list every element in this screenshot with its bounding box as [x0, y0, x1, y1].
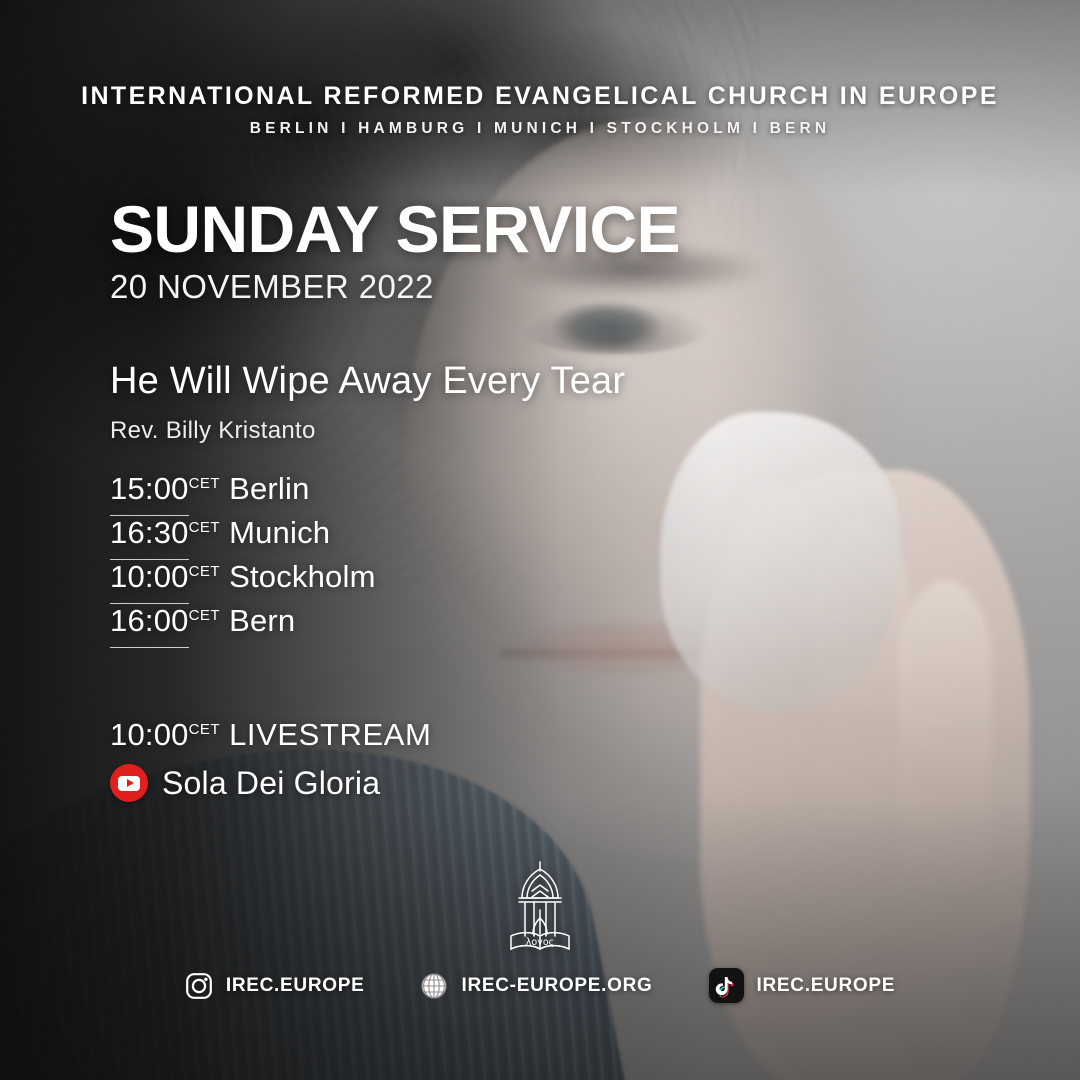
main-block: SUNDAY SERVICE 20 NOVEMBER 2022 He Will …: [110, 196, 830, 802]
sunday-service-poster: INTERNATIONAL REFORMED EVANGELICAL CHURC…: [0, 0, 1080, 1080]
service-time-value: 16:30: [110, 515, 189, 551]
livestream-time-row: 10:00CET LIVESTREAM: [110, 717, 830, 753]
service-time-value: 16:00: [110, 603, 189, 639]
social-link-website[interactable]: IREC-EUROPE.ORG: [420, 972, 652, 1000]
service-time-row: 15:00CET Berlin: [110, 471, 830, 515]
service-date: 20 NOVEMBER 2022: [110, 269, 830, 305]
social-label-tiktok: IREC.EUROPE: [757, 975, 896, 997]
organization-name: INTERNATIONAL REFORMED EVANGELICAL CHURC…: [0, 82, 1080, 111]
youtube-icon-play-triangle: [127, 779, 134, 787]
service-time-zone: CET: [189, 519, 221, 536]
service-time-zone: CET: [189, 607, 221, 624]
social-link-tiktok[interactable]: IREC.EUROPE: [709, 968, 896, 1003]
page-title: SUNDAY SERVICE: [110, 196, 830, 263]
speaker-name: Rev. Billy Kristanto: [110, 417, 830, 445]
service-time-city: Berlin: [229, 471, 309, 507]
instagram-icon[interactable]: [185, 972, 213, 1000]
footer-social-row: IREC.EUROPE: [0, 968, 1080, 1003]
service-time-row: 10:00CET Stockholm: [110, 559, 830, 603]
city-list: BERLIN I HAMBURG I MUNICH I STOCKHOLM I …: [0, 120, 1080, 138]
social-link-instagram[interactable]: IREC.EUROPE: [185, 972, 365, 1000]
service-time-value: 10:00: [110, 559, 189, 595]
livestream-channel-name: Sola Dei Gloria: [162, 765, 380, 802]
poster-content: INTERNATIONAL REFORMED EVANGELICAL CHURC…: [0, 0, 1080, 1080]
livestream-channel-link[interactable]: Sola Dei Gloria: [110, 764, 830, 802]
youtube-icon[interactable]: [110, 764, 148, 802]
church-logo: λογος: [0, 858, 1080, 954]
poster-header: INTERNATIONAL REFORMED EVANGELICAL CHURC…: [0, 82, 1080, 138]
service-time-row: 16:30CET Munich: [110, 515, 830, 559]
livestream-time: 10:00: [110, 717, 189, 753]
service-time-value: 15:00: [110, 471, 189, 507]
sermon-title: He Will Wipe Away Every Tear: [110, 360, 830, 403]
service-time-row: 16:00CET Bern: [110, 603, 830, 647]
service-time-zone: CET: [189, 563, 221, 580]
logo-book-text: λογος: [526, 937, 554, 948]
social-label-instagram: IREC.EUROPE: [226, 975, 365, 997]
service-time-zone: CET: [189, 475, 221, 492]
tiktok-icon[interactable]: [709, 968, 744, 1003]
service-time-city: Stockholm: [229, 559, 376, 595]
service-times-list: 15:00CET Berlin 16:30CET Munich 10:00CET…: [110, 471, 830, 647]
livestream-label: LIVESTREAM: [229, 717, 431, 753]
social-label-website: IREC-EUROPE.ORG: [461, 975, 652, 997]
service-time-city: Munich: [229, 515, 330, 551]
livestream-block: 10:00CET LIVESTREAM Sola Dei Gloria: [110, 717, 830, 802]
youtube-icon-plate: [118, 776, 140, 791]
livestream-zone: CET: [189, 721, 221, 738]
globe-icon[interactable]: [420, 972, 448, 1000]
service-time-city: Bern: [229, 603, 295, 639]
